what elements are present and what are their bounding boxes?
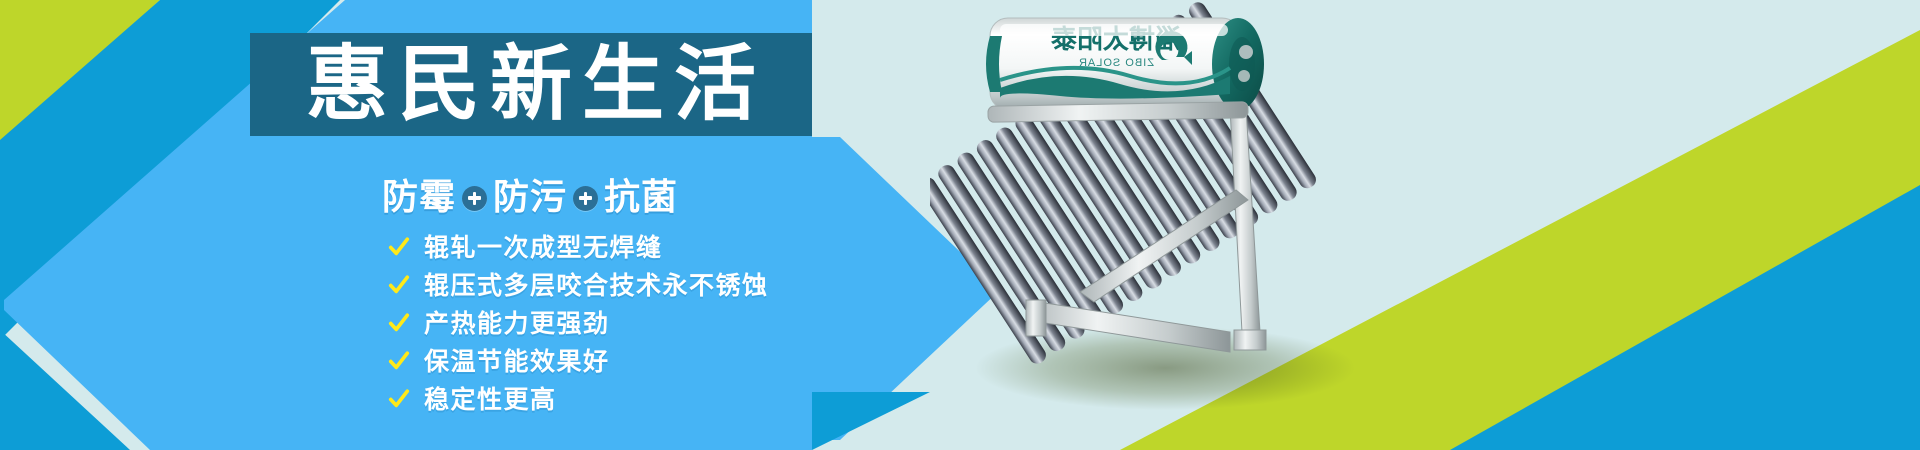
product-image-solar-water-heater: 淄博太阳泰 ZIBO SOLAR <box>930 0 1630 450</box>
list-item-label: 辊轧一次成型无焊缝 <box>424 235 663 260</box>
list-item-label: 稳定性更高 <box>424 387 557 412</box>
feature-list: 辊轧一次成型无焊缝 辊压式多层咬合技术永不锈蚀 产热能力更强劲 保温节能效果好 <box>388 232 769 414</box>
headline-container: 惠民新生活 <box>250 33 812 136</box>
list-item: 保温节能效果好 <box>388 346 769 376</box>
check-icon <box>388 274 410 296</box>
list-item: 辊轧一次成型无焊缝 <box>388 232 769 262</box>
list-item-label: 保温节能效果好 <box>424 349 610 374</box>
subtitle-row: 防霉 防污 抗菌 <box>382 176 678 220</box>
check-icon <box>388 236 410 258</box>
plus-badge-icon <box>573 186 598 211</box>
svg-text:ZIBO SOLAR: ZIBO SOLAR <box>1078 57 1154 69</box>
promo-banner: 惠民新生活 防霉 防污 抗菌 辊轧一次成型无焊缝 辊压式多层咬合技术永不锈蚀 <box>0 0 1920 450</box>
list-item-label: 辊压式多层咬合技术永不锈蚀 <box>424 273 769 298</box>
subtitle-part-3: 抗菌 <box>604 180 678 216</box>
list-item: 辊压式多层咬合技术永不锈蚀 <box>388 270 769 300</box>
tank-brand-subtext: ZIBO SOLAR <box>1078 57 1154 69</box>
list-item: 稳定性更高 <box>388 384 769 414</box>
check-icon <box>388 388 410 410</box>
page-title: 惠民新生活 <box>296 44 766 126</box>
list-item: 产热能力更强劲 <box>388 308 769 338</box>
check-icon <box>388 312 410 334</box>
check-icon <box>388 350 410 372</box>
water-tank: 淄博太阳泰 ZIBO SOLAR <box>986 18 1264 110</box>
plus-badge-icon <box>462 186 487 211</box>
list-item-label: 产热能力更强劲 <box>424 311 610 336</box>
subtitle-part-2: 防污 <box>493 180 567 216</box>
subtitle-part-1: 防霉 <box>382 180 456 216</box>
